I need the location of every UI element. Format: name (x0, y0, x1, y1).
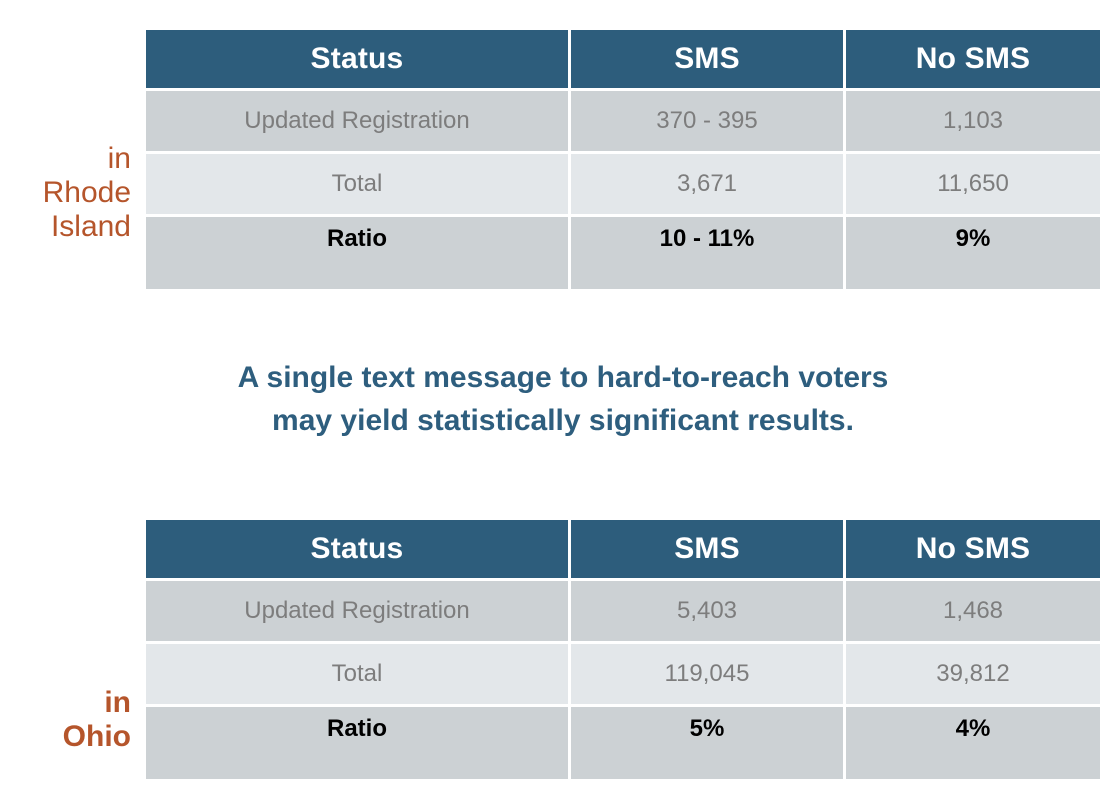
cell-sms: 5,403 (571, 581, 843, 641)
cell-status: Updated Registration (146, 581, 568, 641)
cell-status: Updated Registration (146, 91, 568, 151)
cell-sms: 119,045 (571, 644, 843, 704)
cell-status: Total (146, 644, 568, 704)
table-ohio: Status SMS No SMS Updated Registration 5… (146, 520, 1094, 779)
cell-no-sms: 1,468 (846, 581, 1100, 641)
cell-status: Ratio (146, 707, 568, 779)
caption-text: A single text message to hard-to-reach v… (63, 357, 1063, 442)
column-header-no-sms: No SMS (846, 520, 1100, 578)
table-row-ratio: Ratio 5% 4% (146, 707, 1100, 779)
data-table: Status SMS No SMS Updated Registration 5… (143, 517, 1103, 782)
table-row: Total 3,671 11,650 (146, 154, 1100, 214)
column-header-sms: SMS (571, 520, 843, 578)
table-row-ratio: Ratio 10 - 11% 9% (146, 217, 1100, 289)
cell-status: Ratio (146, 217, 568, 289)
data-table: Status SMS No SMS Updated Registration 3… (143, 27, 1103, 292)
column-header-no-sms: No SMS (846, 30, 1100, 88)
table-header-row: Status SMS No SMS (146, 520, 1100, 578)
cell-no-sms: 9% (846, 217, 1100, 289)
table-header-row: Status SMS No SMS (146, 30, 1100, 88)
column-header-status: Status (146, 30, 568, 88)
cell-sms: 5% (571, 707, 843, 779)
cell-no-sms: 11,650 (846, 154, 1100, 214)
column-header-sms: SMS (571, 30, 843, 88)
caption-line-1: A single text message to hard-to-reach v… (63, 357, 1063, 400)
column-header-status: Status (146, 520, 568, 578)
cell-sms: 3,671 (571, 154, 843, 214)
side-label-rhode-island: in Rhode Island (0, 142, 131, 244)
side-label-ohio: in Ohio (0, 686, 131, 754)
cell-no-sms: 4% (846, 707, 1100, 779)
cell-sms: 370 - 395 (571, 91, 843, 151)
table-row: Total 119,045 39,812 (146, 644, 1100, 704)
caption-line-2: may yield statistically significant resu… (63, 400, 1063, 443)
cell-sms: 10 - 11% (571, 217, 843, 289)
table-row: Updated Registration 5,403 1,468 (146, 581, 1100, 641)
table-row: Updated Registration 370 - 395 1,103 (146, 91, 1100, 151)
table-rhode-island: Status SMS No SMS Updated Registration 3… (146, 30, 1094, 289)
cell-no-sms: 1,103 (846, 91, 1100, 151)
cell-status: Total (146, 154, 568, 214)
cell-no-sms: 39,812 (846, 644, 1100, 704)
